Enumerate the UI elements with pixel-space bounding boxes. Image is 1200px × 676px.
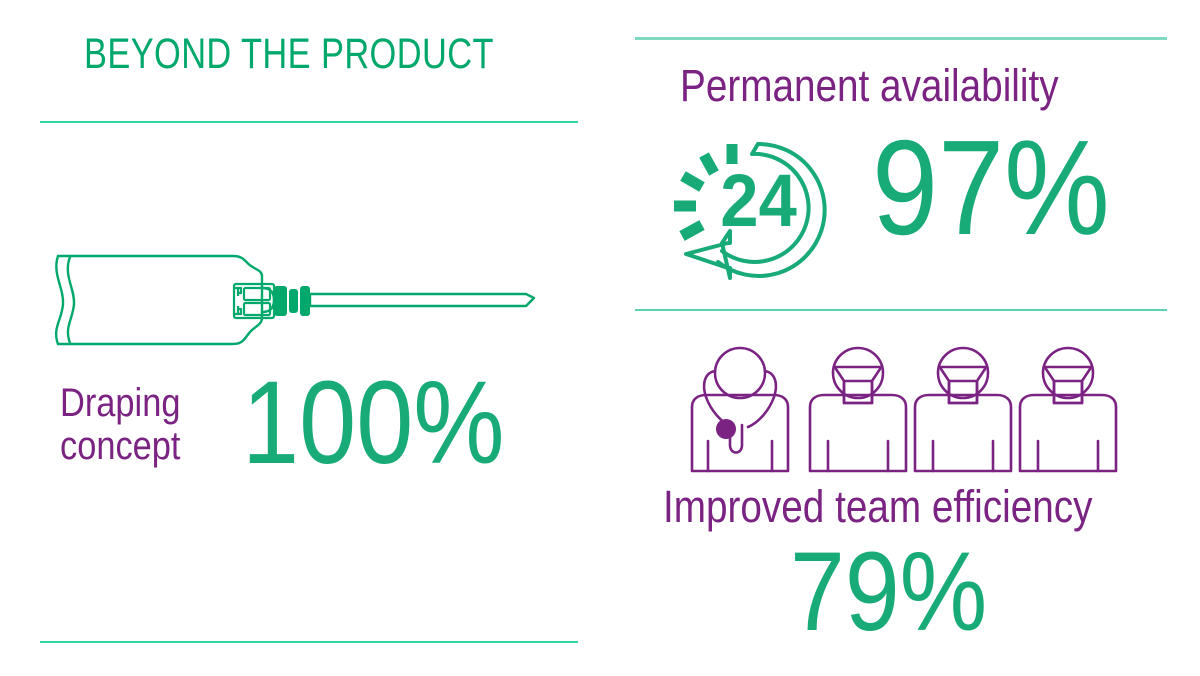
surgical-drape-with-instrument-icon: [48, 248, 558, 368]
heading-permanent-availability: Permanent availability: [680, 62, 1059, 110]
stat-team-efficiency-value: 79%: [790, 536, 987, 648]
masked-figure: [915, 348, 1011, 471]
masked-figure: [810, 348, 906, 471]
divider-left-bottom: [40, 641, 578, 643]
stat-draping-concept: Draping concept 100%: [60, 382, 580, 492]
masked-figure: [1020, 348, 1116, 471]
left-panel: BEYOND THE PRODUCT: [0, 0, 600, 676]
divider-left-top: [40, 121, 578, 123]
divider-right-middle: [635, 309, 1167, 311]
surgical-team-icon: [688, 341, 1118, 481]
doctor-figure: [692, 348, 788, 471]
infographic-page: BEYOND THE PRODUCT: [0, 0, 1200, 676]
heading-improved-team-efficiency: Improved team efficiency: [663, 483, 1092, 531]
24-hour-clock-arrow-icon: 24: [660, 130, 850, 290]
stat-availability-value: 97%: [872, 120, 1110, 255]
stethoscope-chestpiece: [716, 419, 736, 439]
divider-right-top: [635, 37, 1167, 40]
page-title: BEYOND THE PRODUCT: [84, 30, 494, 79]
stat-draping-label: Draping concept: [60, 382, 180, 468]
clock-icon-label: 24: [720, 160, 797, 243]
stat-draping-value: 100%: [242, 364, 505, 482]
